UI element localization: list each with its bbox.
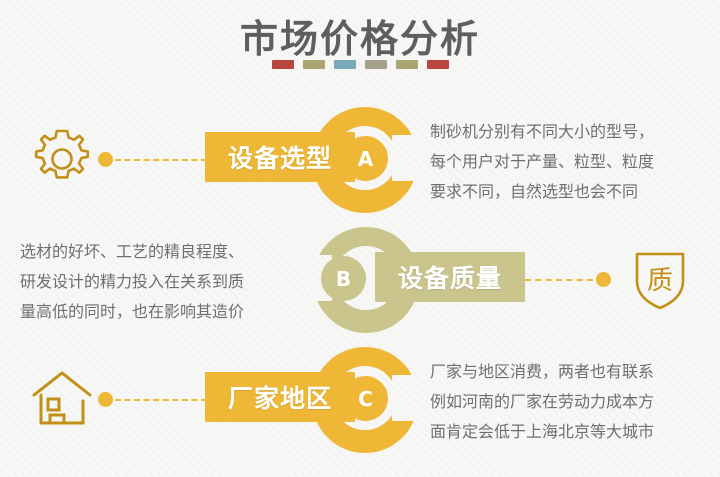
shield-icon-glyph: 质 bbox=[647, 266, 673, 296]
divider-dash-2 bbox=[303, 60, 325, 69]
paragraph-row2-line3: 量高低的同时，也在影响其造价 bbox=[20, 297, 290, 327]
badge-letter-row2: B bbox=[321, 256, 366, 301]
badge-bar-row2: 设备质量 bbox=[375, 252, 525, 302]
paragraph-row1-line1: 制砂机分别有不同大小的型号， bbox=[430, 117, 700, 147]
divider-dash-3 bbox=[334, 60, 356, 69]
badge-letter-text-row2: B bbox=[336, 267, 351, 291]
paragraph-row1-line3: 要求不同，自然选型也会不同 bbox=[430, 177, 700, 207]
badge-arc-notch-row1 bbox=[392, 135, 418, 181]
paragraph-row3-line3: 面肯定会低于上海北京等大城市 bbox=[430, 417, 700, 447]
title-divider-dashes bbox=[0, 60, 720, 69]
divider-dash-5 bbox=[396, 60, 418, 69]
page-title: 市场价格分析 bbox=[0, 8, 720, 63]
connector-dot-row2 bbox=[596, 272, 611, 287]
badge-letter-row1: A bbox=[343, 136, 388, 181]
badge-label-row1: 设备选型 bbox=[228, 139, 332, 175]
connector-dot-row1 bbox=[98, 152, 113, 167]
paragraph-row2-line1: 选材的好坏、工艺的精良程度、 bbox=[20, 237, 290, 267]
badge-label-row3: 厂家地区 bbox=[228, 379, 332, 415]
paragraph-row1: 制砂机分别有不同大小的型号， 每个用户对于产量、粒型、粒度 要求不同，自然选型也… bbox=[430, 117, 700, 207]
badge-letter-row3: C bbox=[343, 376, 388, 421]
paragraph-row2-line2: 研发设计的精力投入在关系到质 bbox=[20, 267, 290, 297]
factory-house-icon bbox=[28, 365, 96, 437]
connector-line-row2 bbox=[525, 279, 593, 281]
paragraph-row1-line2: 每个用户对于产量、粒型、粒度 bbox=[430, 147, 700, 177]
badge-bar-row1: 设备选型 bbox=[205, 132, 355, 182]
badge-bar-row3: 厂家地区 bbox=[205, 372, 355, 422]
gear-icon bbox=[28, 125, 96, 197]
section-equipment-selection: 设备选型 A 制砂机分别有不同大小的型号， 每个用户对于产量、粒型、粒度 要求不… bbox=[0, 105, 720, 215]
badge-letter-text-row3: C bbox=[358, 387, 373, 411]
paragraph-row2: 选材的好坏、工艺的精良程度、 研发设计的精力投入在关系到质 量高低的同时，也在影… bbox=[20, 237, 290, 327]
infographic-canvas: 市场价格分析 设备选型 A 制 bbox=[0, 0, 720, 477]
shield-icon: 质 bbox=[630, 245, 690, 317]
paragraph-row3-line2: 例如河南的厂家在劳动力成本方 bbox=[430, 387, 700, 417]
connector-dot-row3 bbox=[98, 392, 113, 407]
divider-dash-6 bbox=[427, 60, 449, 69]
divider-dash-4 bbox=[365, 60, 387, 69]
paragraph-row3: 厂家与地区消费，两者也有联系 例如河南的厂家在劳动力成本方 面肯定会低于上海北京… bbox=[430, 357, 700, 447]
badge-arc-notch-row3 bbox=[392, 375, 418, 421]
paragraph-row3-line1: 厂家与地区消费，两者也有联系 bbox=[430, 357, 700, 387]
badge-label-row2: 设备质量 bbox=[398, 259, 502, 295]
connector-line-row3 bbox=[115, 399, 207, 401]
section-manufacturer-region: 厂家地区 C 厂家与地区消费，两者也有联系 例如河南的厂家在劳动力成本方 面肯定… bbox=[0, 345, 720, 455]
divider-dash-1 bbox=[272, 60, 294, 69]
connector-line-row1 bbox=[115, 159, 207, 161]
badge-letter-text-row1: A bbox=[358, 147, 373, 171]
section-equipment-quality: 选材的好坏、工艺的精良程度、 研发设计的精力投入在关系到质 量高低的同时，也在影… bbox=[0, 225, 720, 335]
